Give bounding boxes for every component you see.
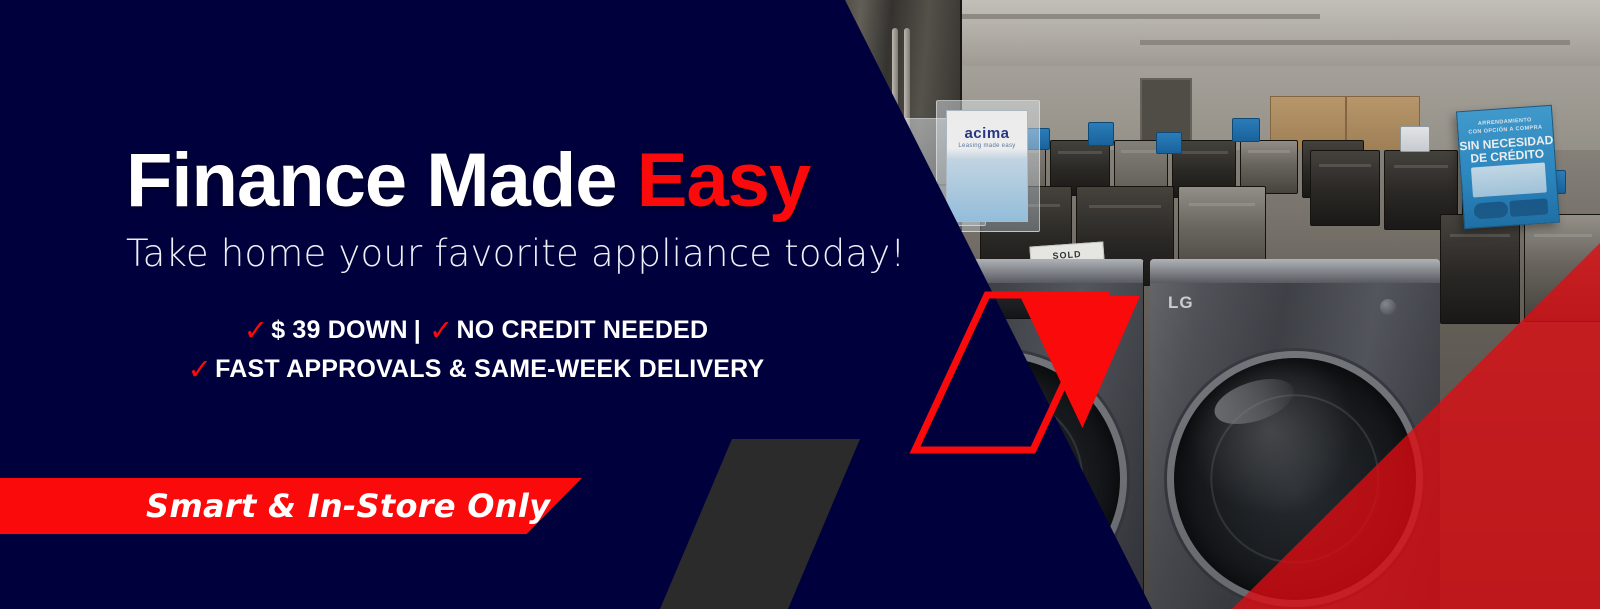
credito-badge-left <box>1473 201 1508 219</box>
benefit-line-1: ✓$ 39 DOWN|✓NO CREDIT NEEDED <box>126 312 826 351</box>
appliance <box>1310 150 1380 226</box>
lg-logo: LG <box>1168 293 1194 313</box>
ceiling-beam <box>1140 40 1570 45</box>
credito-headline: SIN NECESIDAD DE CRÉDITO <box>1459 134 1555 166</box>
finance-promo-banner: CPS $799 acima Leasing made easy ARRENDA… <box>0 0 1600 609</box>
acima-sign: acima Leasing made easy <box>946 110 1028 222</box>
price-tag <box>1156 132 1182 154</box>
credito-photo <box>1471 162 1547 197</box>
headline-main: Finance Made <box>126 138 637 223</box>
no-credit-spanish-sign: ARRENDAMIENTO CON OPCIÓN A COMPRA SIN NE… <box>1456 105 1560 229</box>
control-knob <box>1380 299 1396 315</box>
check-icon: ✓ <box>244 312 269 351</box>
subheadline: Take home your favorite appliance today! <box>126 232 905 275</box>
price-tag <box>1400 126 1430 152</box>
acima-sub-label: Leasing made easy <box>947 143 1027 149</box>
benefit-down-payment: $ 39 DOWN <box>271 316 408 344</box>
page-title: Finance Made Easy <box>126 143 810 219</box>
dryer-door <box>1167 351 1423 607</box>
check-icon: ✓ <box>188 351 213 390</box>
drum-ring <box>1210 394 1379 563</box>
ceiling-beam <box>960 14 1320 19</box>
benefit-fast-approval: FAST APPROVALS & SAME-WEEK DELIVERY <box>215 355 764 383</box>
ribbon-label: Smart & In-Store Only <box>146 487 550 525</box>
benefit-divider: | <box>414 314 421 348</box>
price-tag <box>1232 118 1260 142</box>
in-store-ribbon: Smart & In-Store Only <box>0 478 582 534</box>
credito-badge-right <box>1509 198 1548 217</box>
benefit-no-credit: NO CREDIT NEEDED <box>456 316 708 344</box>
headline-accent: Easy <box>637 138 811 223</box>
benefit-list: ✓$ 39 DOWN|✓NO CREDIT NEEDED ✓FAST APPRO… <box>126 312 826 390</box>
machine-seam <box>1143 259 1144 609</box>
check-icon: ✓ <box>429 312 454 351</box>
lg-dryer: LG <box>1150 259 1440 609</box>
acima-brand-label: acima <box>947 125 1027 142</box>
machine-top-strip <box>1150 259 1440 283</box>
benefit-line-2: ✓FAST APPROVALS & SAME-WEEK DELIVERY <box>126 351 826 390</box>
price-tag <box>1088 122 1114 146</box>
